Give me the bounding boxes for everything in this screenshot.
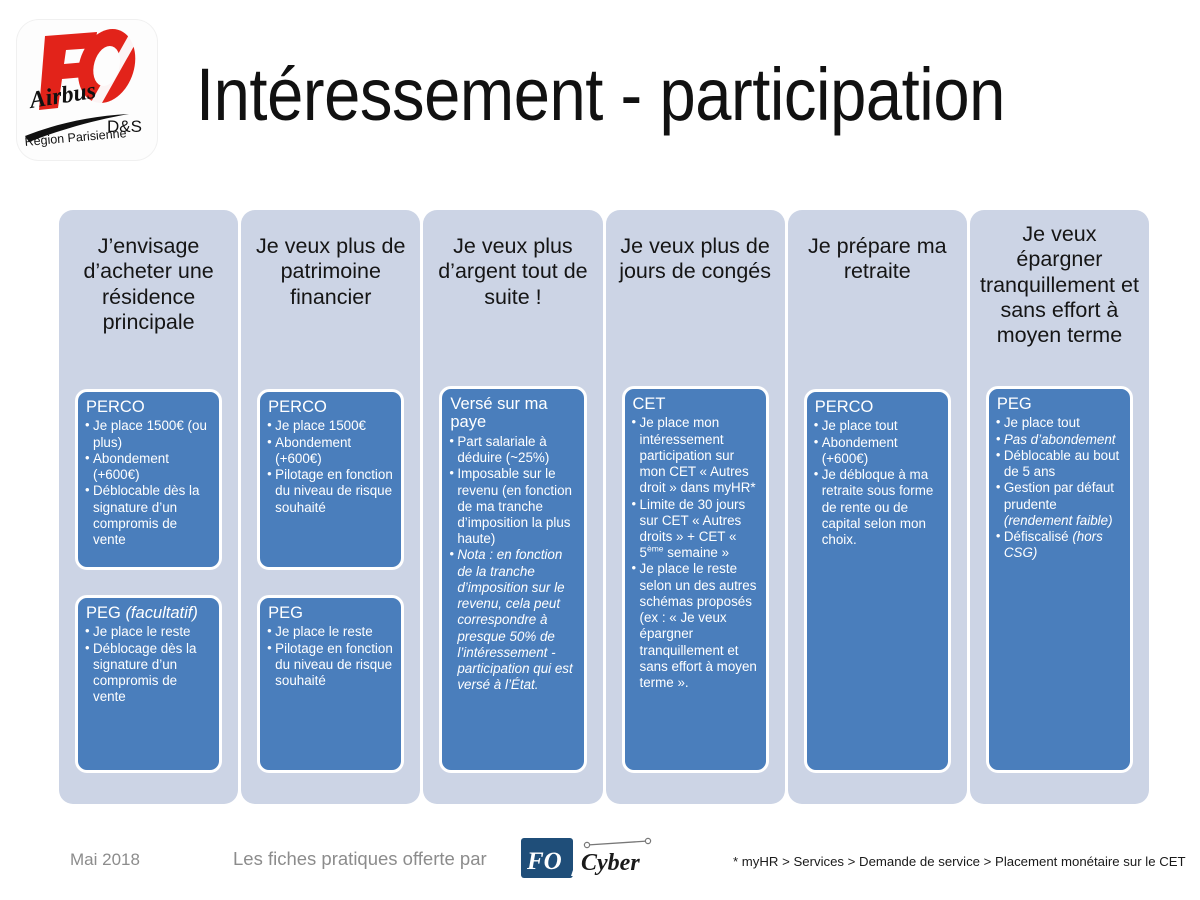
- card-title-main: PEG: [86, 604, 125, 622]
- card-bullet-list: Part salariale à déduire (~25%) Imposabl…: [449, 434, 576, 694]
- list-item: Abondement (+600€): [814, 435, 941, 467]
- card-title: PEG (facultatif): [86, 604, 212, 622]
- list-item: Je place tout: [814, 418, 941, 434]
- list-item: Je place le reste selon un des autres sc…: [632, 561, 759, 691]
- card-title: PERCO: [268, 398, 394, 416]
- fo-airbus-ds-region-parisienne-logo: Airbus D&S Région Parisienne: [17, 20, 157, 160]
- scenario-columns: J’envisage d’acheter une résidence princ…: [59, 210, 1149, 804]
- svg-text:Cyber: Cyber: [581, 850, 640, 876]
- scenario-column-patrimoine-financier[interactable]: Je veux plus de patrimoine financier PER…: [241, 210, 420, 804]
- footer-note: * myHR > Services > Demande de service >…: [733, 854, 1186, 869]
- product-card-perco[interactable]: PERCO Je place 1500€ Abondement (+600€) …: [257, 389, 404, 570]
- list-item: Abondement (+600€): [267, 435, 394, 467]
- footer-tagline: Les fiches pratiques offerte par: [233, 848, 487, 870]
- list-item: Je place mon intéressement participation…: [632, 415, 759, 496]
- list-item: Je place 1500€ (ou plus): [85, 418, 212, 450]
- scenario-column-argent-tout-de-suite[interactable]: Je veux plus d’argent tout de suite ! Ve…: [423, 210, 602, 804]
- ordinal-suffix: ème: [647, 544, 664, 554]
- column-title: Je veux plus d’argent tout de suite !: [423, 210, 602, 358]
- list-item: Je place tout: [996, 415, 1123, 431]
- column-title: J’envisage d’acheter une résidence princ…: [59, 210, 238, 358]
- list-item: Défiscalisé (hors CSG): [996, 529, 1123, 561]
- card-bullet-list: Je place tout Abondement (+600€) Je débl…: [814, 418, 941, 548]
- bullet-qualifier: (rendement faible): [1004, 513, 1113, 528]
- product-card-perco[interactable]: PERCO Je place 1500€ (ou plus) Abondemen…: [75, 389, 222, 570]
- list-item: Je place le reste: [267, 624, 394, 640]
- slide-header: Airbus D&S Région Parisienne Intéresseme…: [0, 0, 1200, 195]
- slide-footer: Mai 2018 Les fiches pratiques offerte pa…: [0, 804, 1200, 900]
- column-title: Je veux épargner tranquillement et sans …: [970, 210, 1149, 358]
- bullet-text: Défiscalisé: [1004, 529, 1072, 544]
- list-item: Limite de 30 jours sur CET « Autres droi…: [632, 497, 759, 562]
- card-title: PEG: [268, 604, 394, 622]
- svg-text:FO: FO: [526, 848, 562, 875]
- card-title: Versé sur ma paye: [450, 395, 576, 432]
- column-cards: PERCO Je place 1500€ Abondement (+600€) …: [257, 389, 404, 773]
- card-bullet-list: Je place le reste Déblocage dès la signa…: [85, 624, 212, 705]
- card-bullet-list: Je place 1500€ (ou plus) Abondement (+60…: [85, 418, 212, 548]
- fo-logo-graphic: Airbus D&S Région Parisienne: [17, 20, 157, 160]
- column-cards: PERCO Je place tout Abondement (+600€) J…: [804, 389, 951, 773]
- column-title: Je veux plus de patrimoine financier: [241, 210, 420, 358]
- card-title: PERCO: [815, 398, 941, 416]
- card-title-qualifier: (facultatif): [125, 604, 197, 622]
- scenario-column-epargner-moyen-terme[interactable]: Je veux épargner tranquillement et sans …: [970, 210, 1149, 804]
- list-item: Gestion par défaut prudente (rendement f…: [996, 480, 1123, 529]
- column-cards: PERCO Je place 1500€ (ou plus) Abondemen…: [75, 389, 222, 773]
- product-card-cet[interactable]: CET Je place mon intéressement participa…: [622, 386, 769, 773]
- product-card-perco[interactable]: PERCO Je place tout Abondement (+600€) J…: [804, 389, 951, 773]
- scenario-column-residence-principale[interactable]: J’envisage d’acheter une résidence princ…: [59, 210, 238, 804]
- bullet-text: Gestion par défaut prudente: [1004, 480, 1114, 511]
- card-bullet-list: Je place tout Pas d’abondement Déblocabl…: [996, 415, 1123, 561]
- fo-cyber-logo: FO Cyber: [521, 836, 653, 880]
- list-item: Abondement (+600€): [85, 451, 212, 483]
- list-item: Imposable sur le revenu (en fonction de …: [449, 466, 576, 547]
- list-item: Déblocage dès la signature d’un compromi…: [85, 641, 212, 706]
- card-bullet-list: Je place le reste Pilotage en fonction d…: [267, 624, 394, 689]
- product-card-peg[interactable]: PEG (facultatif) Je place le reste Déblo…: [75, 595, 222, 773]
- product-card-peg[interactable]: PEG Je place le reste Pilotage en foncti…: [257, 595, 404, 773]
- scenario-column-retraite[interactable]: Je prépare ma retraite PERCO Je place to…: [788, 210, 967, 804]
- list-item: Part salariale à déduire (~25%): [449, 434, 576, 466]
- list-item: Je débloque à ma retraite sous forme de …: [814, 467, 941, 548]
- product-card-peg[interactable]: PEG Je place tout Pas d’abondement Déblo…: [986, 386, 1133, 773]
- product-card-verse-sur-ma-paye[interactable]: Versé sur ma paye Part salariale à dédui…: [439, 386, 586, 773]
- list-item: Je place 1500€: [267, 418, 394, 434]
- fo-cyber-logo-graphic: FO Cyber: [521, 836, 653, 880]
- column-title: Je prépare ma retraite: [788, 210, 967, 358]
- column-title: Je veux plus de jours de congés: [606, 210, 785, 358]
- list-item: Pilotage en fonction du niveau de risque…: [267, 641, 394, 690]
- card-title: PERCO: [86, 398, 212, 416]
- list-item: Déblocable dès la signature d’un comprom…: [85, 483, 212, 548]
- list-item: Je place le reste: [85, 624, 212, 640]
- card-title: PEG: [997, 395, 1123, 413]
- list-item: Déblocable au bout de 5 ans: [996, 448, 1123, 480]
- list-item: Nota : en fonction de la tranche d’impos…: [449, 547, 576, 693]
- list-item: Pas d’abondement: [996, 432, 1123, 448]
- card-title: CET: [633, 395, 759, 413]
- scenario-column-jours-de-conges[interactable]: Je veux plus de jours de congés CET Je p…: [606, 210, 785, 804]
- page-title: Intéressement - participation: [196, 56, 1041, 134]
- column-cards: Versé sur ma paye Part salariale à dédui…: [439, 386, 586, 773]
- column-cards: PEG Je place tout Pas d’abondement Déblo…: [986, 386, 1133, 773]
- card-bullet-list: Je place 1500€ Abondement (+600€) Pilota…: [267, 418, 394, 515]
- footer-date: Mai 2018: [70, 850, 140, 870]
- column-cards: CET Je place mon intéressement participa…: [622, 386, 769, 773]
- list-item: Pilotage en fonction du niveau de risque…: [267, 467, 394, 516]
- card-bullet-list: Je place mon intéressement participation…: [632, 415, 759, 691]
